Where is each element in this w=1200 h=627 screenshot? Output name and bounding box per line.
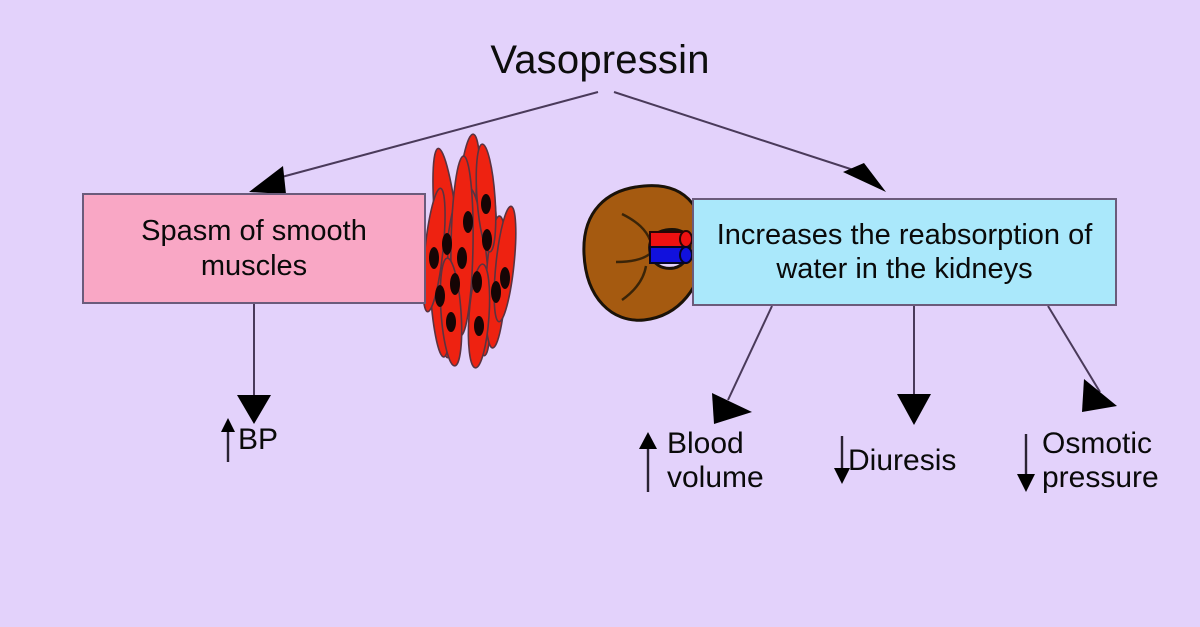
renal-artery	[650, 231, 692, 247]
outcome-arrow-blood-volume-up	[639, 432, 657, 492]
outcome-label-osmotic-pressure: Osmotic pressure	[1042, 427, 1200, 495]
connector-layer	[0, 0, 1200, 627]
kidney-illustration	[584, 186, 704, 321]
diagram-canvas: Vasopressin	[0, 0, 1200, 627]
smooth-muscle-cells-illustration	[419, 133, 520, 368]
connector-kidneybox-to-osmotic-pressure	[1048, 306, 1117, 412]
connector-title-to-kidney-box	[614, 92, 886, 192]
box-spasm-of-smooth-muscles[interactable]: Spasm of smooth muscles	[82, 193, 426, 304]
outcome-label-bp: BP	[238, 423, 358, 457]
connector-title-to-spasm	[249, 92, 598, 194]
renal-vein	[650, 247, 692, 263]
outcome-arrow-bp-up	[221, 418, 235, 462]
box-increases-water-reabsorption[interactable]: Increases the reabsorption of water in t…	[692, 198, 1117, 306]
outcome-label-diuresis: Diuresis	[848, 444, 1048, 478]
connector-kidneybox-to-diuresis	[897, 306, 931, 425]
connector-kidneybox-to-blood-volume	[712, 306, 772, 424]
connector-spasm-to-bp	[237, 304, 271, 424]
outcome-label-blood-volume: Blood volume	[667, 427, 827, 495]
